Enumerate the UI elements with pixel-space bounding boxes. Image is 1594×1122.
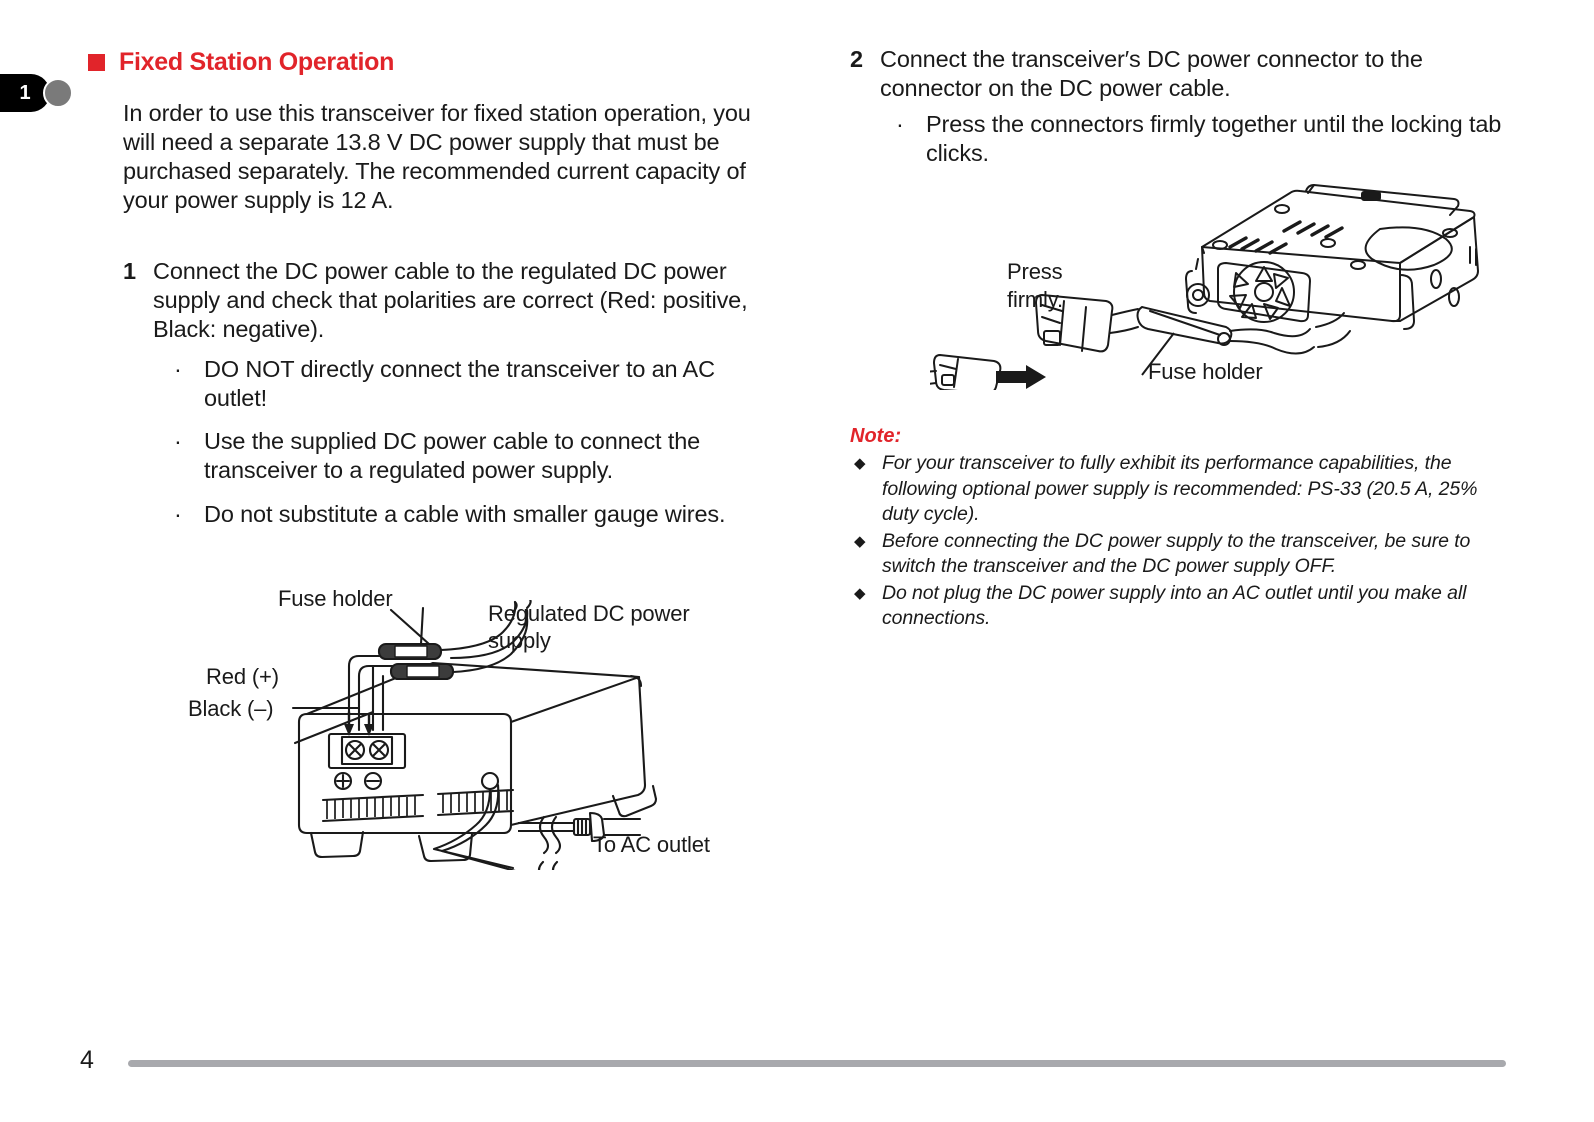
left-bullet-1: · DO NOT directly connect the transceive… [166, 355, 766, 413]
note-item-1: ◆ For your transceiver to fully exhibit … [850, 451, 1500, 528]
dot-bullet-icon: · [888, 110, 926, 168]
right-bullet-1-text: Press the connectors firmly together unt… [926, 110, 1508, 168]
label-press-firmly: Press firmly. [1007, 258, 1063, 314]
diamond-bullet-icon: ◆ [850, 451, 882, 528]
note-item-3: ◆ Do not plug the DC power supply into a… [850, 581, 1500, 632]
chapter-tab-dot-icon [43, 78, 73, 108]
left-bullet-1-text: DO NOT directly connect the transceiver … [204, 355, 766, 413]
label-black-negative: Black (–) [188, 695, 273, 722]
dot-bullet-icon: · [166, 427, 204, 485]
left-bullet-2: · Use the supplied DC power cable to con… [166, 427, 776, 485]
dot-bullet-icon: · [166, 500, 204, 529]
chapter-tab: 1 [0, 74, 68, 112]
section-heading: Fixed Station Operation [88, 48, 394, 77]
note-item-3-text: Do not plug the DC power supply into an … [882, 581, 1500, 632]
dot-bullet-icon: · [166, 355, 204, 413]
square-bullet-icon [88, 54, 105, 71]
page-number: 4 [80, 1046, 94, 1075]
note-item-2: ◆ Before connecting the DC power supply … [850, 529, 1500, 580]
section-heading-label: Fixed Station Operation [119, 48, 394, 77]
note-item-2-text: Before connecting the DC power supply to… [882, 529, 1500, 580]
label-to-ac-outlet: To AC outlet [593, 831, 710, 858]
step-1-text: Connect the DC power cable to the regula… [153, 257, 763, 344]
left-bullet-3-text: Do not substitute a cable with smaller g… [204, 500, 725, 529]
footer-rule [128, 1060, 1506, 1067]
step-1: 1 Connect the DC power cable to the regu… [123, 257, 763, 344]
manual-page: 1 Fixed Station Operation In order to us… [0, 0, 1594, 1122]
left-bullet-2-text: Use the supplied DC power cable to conne… [204, 427, 776, 485]
left-bullet-3: · Do not substitute a cable with smaller… [166, 500, 766, 529]
diamond-bullet-icon: ◆ [850, 529, 882, 580]
note-item-1-text: For your transceiver to fully exhibit it… [882, 451, 1500, 528]
diamond-bullet-icon: ◆ [850, 581, 882, 632]
label-regulated-dc-supply: Regulated DC power supply [488, 600, 690, 654]
label-red-positive: Red (+) [206, 663, 279, 690]
label-fuse-holder-left: Fuse holder [278, 585, 393, 612]
chapter-tab-number: 1 [8, 74, 42, 112]
step-2-text: Connect the transceiver′s DC power conne… [880, 45, 1490, 103]
step-2-number: 2 [850, 45, 880, 103]
note-title: Note: [850, 425, 1500, 448]
step-1-number: 1 [123, 257, 153, 344]
right-bullet-1: · Press the connectors firmly together u… [888, 110, 1508, 168]
intro-paragraph: In order to use this transceiver for fix… [123, 99, 763, 215]
step-2: 2 Connect the transceiver′s DC power con… [850, 45, 1490, 103]
note-block: Note: ◆ For your transceiver to fully ex… [850, 425, 1500, 633]
label-fuse-holder-right: Fuse holder [1148, 358, 1263, 385]
